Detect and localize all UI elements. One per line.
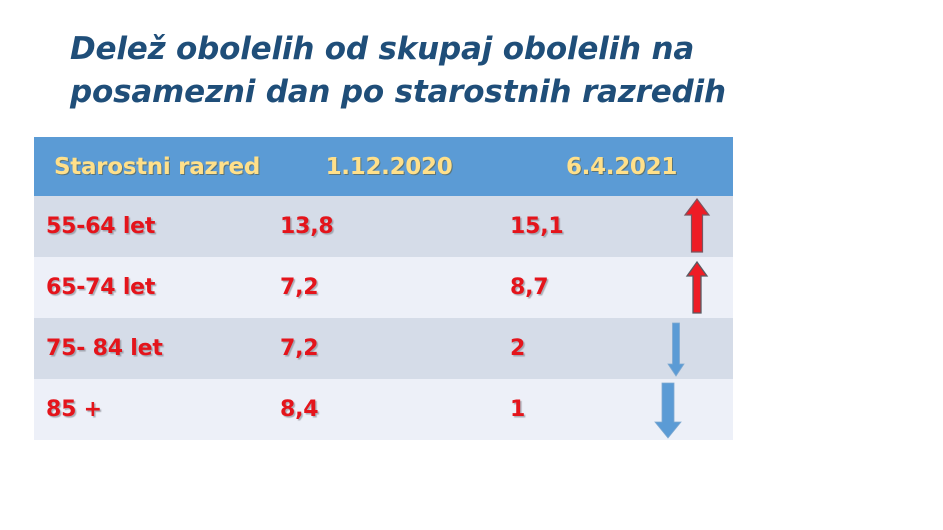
age-group-value: 65-74 let [34,275,268,300]
cell-age-group: 75- 84 let [34,318,268,379]
table-row: 55-64 let 13,8 15,1 [34,196,733,257]
slide-canvas: Delež obolelih od skupaj obolelih na pos… [0,0,943,530]
column-header-age-group-label: Starostni razred [34,154,268,180]
column-header-date-2021-label: 6.4.2021 [498,154,733,180]
cell-age-group: 85 + [34,379,268,440]
cell-value-2020: 8,4 [268,379,498,440]
cell-value-2021: 8,7 [498,257,733,318]
value-2020: 8,4 [268,397,498,422]
value-2021: 2 [498,336,733,361]
page-title: Delež obolelih od skupaj obolelih na pos… [70,28,770,114]
cell-value-2020: 7,2 [268,257,498,318]
age-group-share-table: Starostni razred 1.12.2020 6.4.2021 55-6… [34,137,733,440]
cell-age-group: 65-74 let [34,257,268,318]
age-group-value: 75- 84 let [34,336,268,361]
table-row: 85 + 8,4 1 [34,379,733,440]
table-row: 75- 84 let 7,2 2 [34,318,733,379]
cell-age-group: 55-64 let [34,196,268,257]
value-2021: 15,1 [498,214,733,239]
column-header-date-2020-label: 1.12.2020 [268,154,498,180]
value-2020: 13,8 [268,214,498,239]
column-header-date-2021: 6.4.2021 [498,137,733,196]
age-group-value: 55-64 let [34,214,268,239]
value-2021: 8,7 [498,275,733,300]
value-2020: 7,2 [268,336,498,361]
column-header-date-2020: 1.12.2020 [268,137,498,196]
table-row: 65-74 let 7,2 8,7 [34,257,733,318]
cell-value-2020: 7,2 [268,318,498,379]
age-group-value: 85 + [34,397,268,422]
cell-value-2020: 13,8 [268,196,498,257]
value-2020: 7,2 [268,275,498,300]
cell-value-2021: 1 [498,379,733,440]
column-header-age-group: Starostni razred [34,137,268,196]
cell-value-2021: 15,1 [498,196,733,257]
table-header-row: Starostni razred 1.12.2020 6.4.2021 [34,137,733,196]
cell-value-2021: 2 [498,318,733,379]
value-2021: 1 [498,397,733,422]
